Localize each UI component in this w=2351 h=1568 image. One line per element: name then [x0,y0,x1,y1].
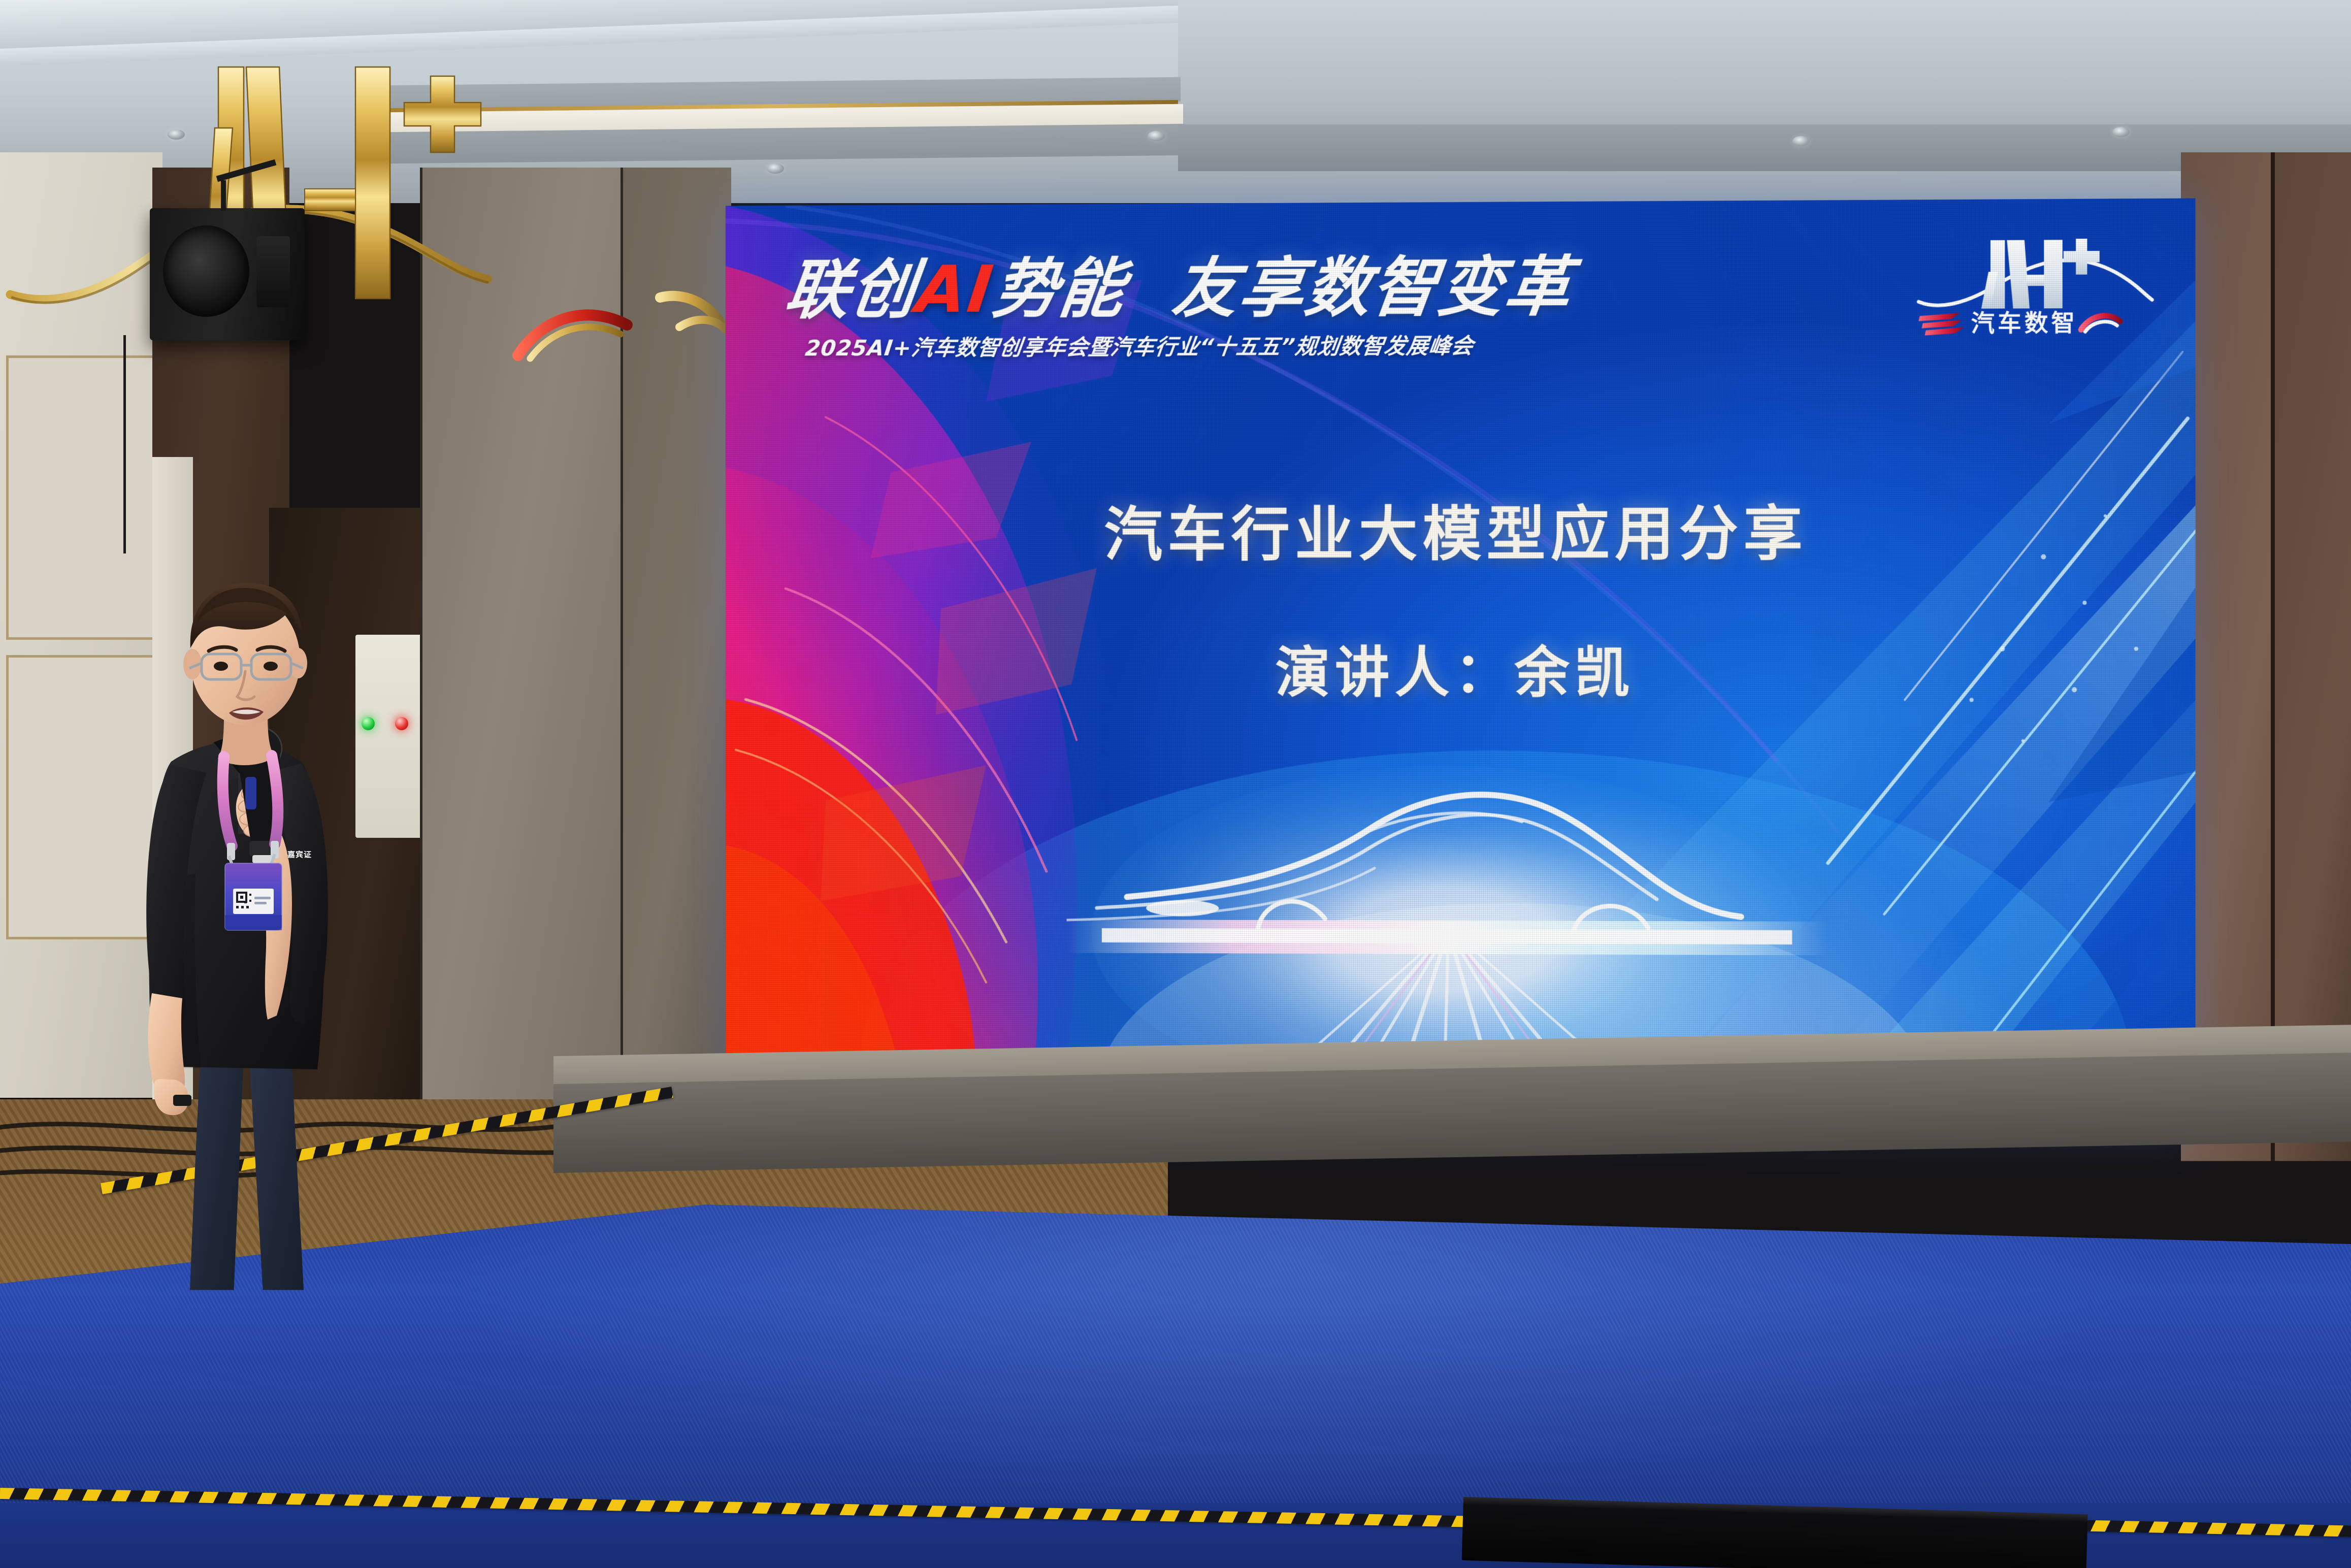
downlight-icon [2112,127,2130,137]
svg-text:汽: 汽 [1971,309,1995,337]
guest-badge [225,863,282,930]
led-slogan-block: 联创AI势能 友享数智变革 2025AI+汽车数智创享年会暨汽车行业“十五五”规… [786,254,1644,362]
downlight-icon [767,164,784,174]
ceiling-soffit-right [1178,124,2351,171]
conference-stage-photo: 汽 车 数 智 [0,0,2351,1568]
led-slogan-subtitle: 2025AI+汽车数智创享年会暨汽车行业“十五五”规划数智发展峰会 [804,328,1646,363]
led-presentation-title: 汽车行业大模型应用分享 [726,485,2196,572]
hanging-pa-speaker [150,208,305,340]
downlight-icon [1148,131,1165,141]
svg-text:车: 车 [1998,309,2021,337]
slogan-seg-1: 联创 [781,252,922,328]
led-stage-screen: 联创AI势能 友享数智变革 2025AI+汽车数智创享年会暨汽车行业“十五五”规… [726,198,2196,1135]
slogan-seg-2: 势能 [989,251,1130,328]
speaker-woofer-icon [163,225,249,317]
speaker-cable [123,335,126,553]
led-corner-logo: 汽车 数智 [1912,220,2154,349]
svg-text:智: 智 [2051,309,2075,337]
venue-logo-arc-accent [508,284,746,396]
led-presentation-speaker: 演讲人：余凯 [726,628,2196,708]
presenter-figure [124,538,449,1432]
guest-badge-label: 嘉宾证 [274,849,325,860]
slogan-seg-ai: AI [912,252,998,328]
speaker-horn-icon [256,236,290,307]
speaker-mount-pole [221,180,226,211]
led-slogan-main: 联创AI势能 友享数智变革 [781,254,1648,323]
slogan-seg-3: 友享数智变革 [1169,249,1577,326]
presentation-clicker [173,1095,191,1106]
downlight-icon [1792,136,1810,146]
stage-monitor-speaker [1462,1502,2088,1568]
svg-text:数: 数 [2025,309,2048,337]
